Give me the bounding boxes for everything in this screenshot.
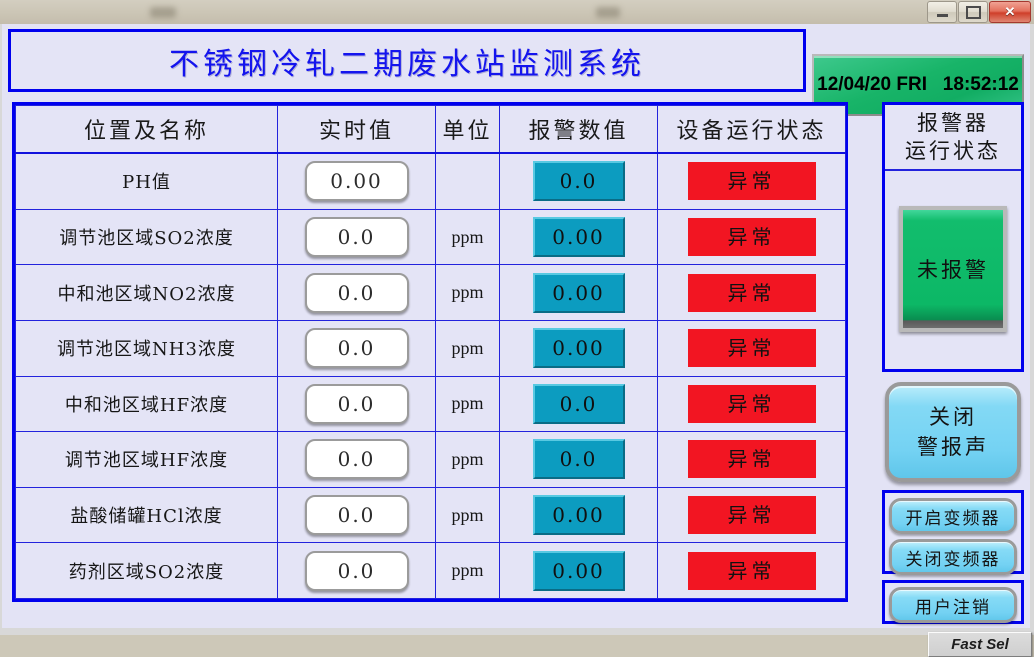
column-header-name: 位置及名称 <box>16 106 278 154</box>
status-badge[interactable]: 异常 <box>688 385 816 423</box>
alarm-threshold-display[interactable]: 0.00 <box>533 495 625 535</box>
cell-unit: ppm <box>436 209 500 265</box>
cell-state: 异常 <box>658 153 846 209</box>
table-row: PH值0.000.0异常 <box>16 153 846 209</box>
vfd-off-button[interactable]: 关闭变频器 <box>889 539 1017 575</box>
alarm-threshold-display[interactable]: 0.00 <box>533 551 625 591</box>
alarm-status-panel: 报警器 运行状态 未报警 <box>882 102 1024 372</box>
logout-panel: 用户注销 <box>882 580 1024 624</box>
status-badge[interactable]: 异常 <box>688 329 816 367</box>
monitoring-table-frame: 位置及名称 实时值 单位 报警数值 设备运行状态 PH值0.000.0异常调节池… <box>12 102 848 602</box>
cell-value: 0.0 <box>278 432 436 488</box>
cell-name: 中和池区域NO2浓度 <box>16 265 278 321</box>
table-row: 药剂区域SO2浓度0.0ppm0.00异常 <box>16 543 846 599</box>
realtime-value-display[interactable]: 0.00 <box>305 161 409 201</box>
cell-unit: ppm <box>436 487 500 543</box>
column-header-alarm: 报警数值 <box>500 106 658 154</box>
window-controls[interactable]: ✕ <box>926 1 1031 22</box>
column-header-value: 实时值 <box>278 106 436 154</box>
realtime-value-display[interactable]: 0.0 <box>305 328 409 368</box>
alarm-threshold-display[interactable]: 0.0 <box>533 161 625 201</box>
cell-name: 调节池区域SO2浓度 <box>16 209 278 265</box>
table-row: 调节池区域SO2浓度0.0ppm0.00异常 <box>16 209 846 265</box>
alarm-panel-title-line1: 报警器 <box>917 109 989 137</box>
cell-value: 0.0 <box>278 376 436 432</box>
alarm-panel-title: 报警器 运行状态 <box>885 105 1021 171</box>
table-row: 中和池区域HF浓度0.0ppm0.0异常 <box>16 376 846 432</box>
window-titlebar: ✕ <box>0 0 1034 24</box>
cell-alarm: 0.0 <box>500 376 658 432</box>
table-row: 中和池区域NO2浓度0.0ppm0.00异常 <box>16 265 846 321</box>
cell-value: 0.0 <box>278 209 436 265</box>
cell-unit: ppm <box>436 265 500 321</box>
realtime-value-display[interactable]: 0.0 <box>305 217 409 257</box>
table-row: 盐酸储罐HCl浓度0.0ppm0.00异常 <box>16 487 846 543</box>
vfd-on-button[interactable]: 开启变频器 <box>889 498 1017 534</box>
mute-button-line2: 警报声 <box>917 432 989 462</box>
table-row: 调节池区域NH3浓度0.0ppm0.00异常 <box>16 320 846 376</box>
mute-button-line1: 关闭 <box>929 402 977 432</box>
status-badge[interactable]: 异常 <box>688 440 816 478</box>
cell-state: 异常 <box>658 376 846 432</box>
alarm-threshold-display[interactable]: 0.00 <box>533 217 625 257</box>
cell-state: 异常 <box>658 320 846 376</box>
cell-state: 异常 <box>658 265 846 321</box>
table-body: PH值0.000.0异常调节池区域SO2浓度0.0ppm0.00异常中和池区域N… <box>16 153 846 599</box>
cell-value: 0.0 <box>278 543 436 599</box>
status-badge[interactable]: 异常 <box>688 274 816 312</box>
page-title: 不锈钢冷轧二期废水站监测系统 <box>169 39 645 83</box>
status-badge[interactable]: 异常 <box>688 552 816 590</box>
cell-name: 盐酸储罐HCl浓度 <box>16 487 278 543</box>
cell-alarm: 0.0 <box>500 153 658 209</box>
cell-value: 0.00 <box>278 153 436 209</box>
cell-name: PH值 <box>16 153 278 209</box>
mute-alarm-button[interactable]: 关闭 警报声 <box>885 382 1021 482</box>
table-header-row: 位置及名称 实时值 单位 报警数值 设备运行状态 <box>16 106 846 154</box>
alarm-threshold-display[interactable]: 0.0 <box>533 439 625 479</box>
cell-unit <box>436 153 500 209</box>
minimize-icon[interactable] <box>927 1 957 23</box>
maximize-icon[interactable] <box>958 1 988 23</box>
cell-alarm: 0.0 <box>500 432 658 488</box>
desktop: ✕ 不锈钢冷轧二期废水站监测系统 12/04/20 FRI 18:52:12 <box>0 0 1034 635</box>
realtime-value-display[interactable]: 0.0 <box>305 439 409 479</box>
cell-state: 异常 <box>658 432 846 488</box>
monitoring-table: 位置及名称 实时值 单位 报警数值 设备运行状态 PH值0.000.0异常调节池… <box>15 105 846 599</box>
cell-alarm: 0.00 <box>500 543 658 599</box>
status-badge[interactable]: 异常 <box>688 496 816 534</box>
cell-alarm: 0.00 <box>500 487 658 543</box>
realtime-value-display[interactable]: 0.0 <box>305 495 409 535</box>
cell-unit: ppm <box>436 320 500 376</box>
column-header-unit: 单位 <box>436 106 500 154</box>
fast-sel-button[interactable]: Fast Sel <box>928 632 1032 657</box>
alarm-threshold-display[interactable]: 0.00 <box>533 328 625 368</box>
cell-unit: ppm <box>436 432 500 488</box>
status-badge[interactable]: 异常 <box>688 218 816 256</box>
cell-alarm: 0.00 <box>500 265 658 321</box>
cell-alarm: 0.00 <box>500 209 658 265</box>
cell-state: 异常 <box>658 487 846 543</box>
cell-unit: ppm <box>436 543 500 599</box>
cell-unit: ppm <box>436 376 500 432</box>
alarm-threshold-display[interactable]: 0.00 <box>533 273 625 313</box>
cell-name: 调节池区域HF浓度 <box>16 432 278 488</box>
cell-value: 0.0 <box>278 265 436 321</box>
page-title-banner: 不锈钢冷轧二期废水站监测系统 <box>8 29 806 92</box>
table-row: 调节池区域HF浓度0.0ppm0.0异常 <box>16 432 846 488</box>
datetime-text: 12/04/20 FRI 18:52:12 <box>817 74 1019 96</box>
vfd-control-panel: 开启变频器 关闭变频器 <box>882 490 1024 574</box>
cell-value: 0.0 <box>278 320 436 376</box>
cell-name: 药剂区域SO2浓度 <box>16 543 278 599</box>
realtime-value-display[interactable]: 0.0 <box>305 551 409 591</box>
realtime-value-display[interactable]: 0.0 <box>305 273 409 313</box>
cell-value: 0.0 <box>278 487 436 543</box>
cell-name: 调节池区域NH3浓度 <box>16 320 278 376</box>
cell-state: 异常 <box>658 209 846 265</box>
application-window: 不锈钢冷轧二期废水站监测系统 12/04/20 FRI 18:52:12 位置及… <box>0 24 1034 635</box>
application-canvas: 不锈钢冷轧二期废水站监测系统 12/04/20 FRI 18:52:12 位置及… <box>2 24 1030 628</box>
realtime-value-display[interactable]: 0.0 <box>305 384 409 424</box>
alarm-threshold-display[interactable]: 0.0 <box>533 384 625 424</box>
cell-alarm: 0.00 <box>500 320 658 376</box>
alarm-status-lamp[interactable]: 未报警 <box>899 206 1007 332</box>
cell-state: 异常 <box>658 543 846 599</box>
alarm-panel-title-line2: 运行状态 <box>905 137 1001 165</box>
status-badge[interactable]: 异常 <box>688 162 816 200</box>
alarm-lamp-wrapper: 未报警 <box>885 171 1021 367</box>
close-icon[interactable]: ✕ <box>989 1 1031 23</box>
user-logout-button[interactable]: 用户注销 <box>889 587 1017 623</box>
mute-panel: 关闭 警报声 <box>882 376 1024 484</box>
cell-name: 中和池区域HF浓度 <box>16 376 278 432</box>
column-header-state: 设备运行状态 <box>658 106 846 154</box>
